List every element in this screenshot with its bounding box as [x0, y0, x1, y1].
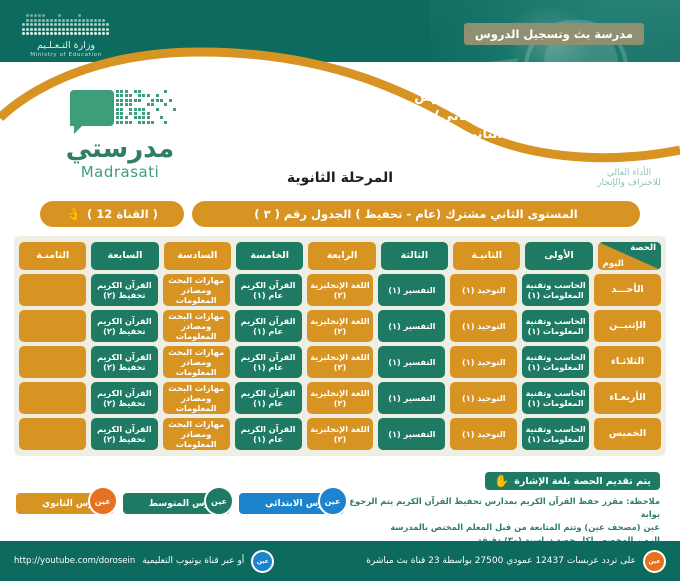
subject-cell: اللغة الإنجليزية (٢) — [307, 418, 374, 450]
title-line-1: جدول الحصص اليومي للدروس — [350, 88, 680, 107]
day-cell: الإثنيــن — [594, 310, 661, 342]
table-header-period-1: الأولى — [525, 242, 592, 270]
subject-cell — [19, 310, 86, 342]
table-row: الأربعـاءالحاسب وتقنية المعلومات (١)التو… — [19, 382, 661, 414]
subject-cell: مهارات البحث ومصادر المعلومات — [163, 274, 230, 306]
schedule-table: الحصةاليومالأولىالثانيـةالثالثةالرابعةال… — [14, 236, 666, 456]
speech-bubble-icon — [70, 90, 114, 126]
subject-cell: التوحيد (١) — [450, 418, 517, 450]
subject-cell — [19, 346, 86, 378]
schedule-page: مدرسة بث وتسجيل الدروس وزارة التـعـلـيم … — [0, 0, 680, 581]
subject-cell: اللغة الإنجليزية (٢) — [307, 310, 374, 342]
madrasati-mark-icon — [60, 86, 180, 134]
table-header-period-3: الثالثة — [381, 242, 448, 270]
ministry-name-en: Ministry of Education — [14, 52, 118, 58]
ain-button[interactable]: عيندروس المتوسط — [123, 493, 230, 514]
schedule-title: جدول الحصص اليومي للدروس (الفصل الدراسي … — [350, 88, 680, 145]
subject-cell: القرآن الكريم عام (١) — [235, 274, 302, 306]
ain-buttons-row: عيندروس الابتدائيعيندروس المتوسطعيندروس … — [16, 493, 344, 514]
table-header-row: الحصةاليومالأولىالثانيـةالثالثةالرابعةال… — [19, 242, 661, 270]
ain-icon-right: عين — [643, 550, 666, 573]
footer-note: ملاحظة: مقرر حفظ القرآن الكريم بمدارس تح… — [330, 495, 660, 546]
bottom-bar: عين على تردد عربسات 12437 عمودي 27500 بو… — [0, 541, 680, 581]
pixel-grid-icon — [116, 90, 178, 126]
subject-cell — [19, 418, 86, 450]
madrasati-logo: مدرستي Madrasati — [40, 86, 200, 181]
broadcast-school-tag: مدرسة بث وتسجيل الدروس — [464, 23, 644, 45]
hand-icon: 👌 — [66, 208, 81, 220]
level-pill-row: المستوى الثاني مشترك (عام - تحفيظ ) الجد… — [0, 200, 680, 228]
subject-cell: مهارات البحث ومصادر المعلومات — [163, 346, 230, 378]
subject-cell: القرآن الكريم تحفيظ (٢) — [91, 346, 158, 378]
subject-cell: التفسير (١) — [378, 346, 445, 378]
ain-badge-icon: عين — [318, 486, 348, 516]
note-line-1: ملاحظة: مقرر حفظ القرآن الكريم بمدارس تح… — [330, 495, 660, 521]
ain-badge-icon: عين — [88, 486, 118, 516]
title-line-2: (الفصل الدراسي الثاني) — [350, 107, 680, 126]
ain-button[interactable]: عيندروس الابتدائي — [239, 493, 344, 514]
ministry-dots-icon — [22, 10, 110, 36]
subject-cell: القرآن الكريم عام (١) — [235, 310, 302, 342]
subject-cell: التفسير (١) — [378, 310, 445, 342]
table-row: الثلاثـاءالحاسب وتقنية المعلومات (١)التو… — [19, 346, 661, 378]
subject-cell: القرآن الكريم عام (١) — [235, 382, 302, 414]
subject-cell: التوحيد (١) — [450, 382, 517, 414]
ain-badge-icon: عين — [204, 486, 234, 516]
youtube-url[interactable]: http://youtube.com/dorosein — [14, 556, 135, 566]
subject-cell: القرآن الكريم عام (١) — [235, 346, 302, 378]
table-header-period-6: السادسة — [164, 242, 231, 270]
subject-cell: التفسير (١) — [378, 382, 445, 414]
youtube-info[interactable]: عين أو عبر قناة يوتيوب التعليمية http://… — [14, 550, 274, 573]
subject-cell: القرآن الكريم عام (١) — [235, 418, 302, 450]
subject-cell: الحاسب وتقنية المعلومات (١) — [522, 310, 589, 342]
ain-icon-left: عين — [251, 550, 274, 573]
table-header-period-5: الخامسة — [236, 242, 303, 270]
subject-cell: اللغة الإنجليزية (٢) — [307, 382, 374, 414]
stage-title: المرحلة الثانوية — [0, 170, 680, 186]
ministry-name-ar: وزارة التـعـلـيم — [14, 40, 118, 51]
subject-cell — [19, 274, 86, 306]
corner-day-label: اليوم — [603, 259, 624, 269]
sign-language-label: يتم تقديم الحصة بلغة الإشارة — [514, 476, 651, 487]
madrasati-name-ar: مدرستي — [40, 136, 200, 162]
day-cell: الخميس — [594, 418, 661, 450]
subject-cell: اللغة الإنجليزية (٢) — [307, 274, 374, 306]
subject-cell: مهارات البحث ومصادر المعلومات — [163, 382, 230, 414]
subject-cell — [19, 382, 86, 414]
day-cell: الأحـــد — [594, 274, 661, 306]
subject-cell: اللغة الإنجليزية (٢) — [307, 346, 374, 378]
note-line-2: عين (مصحف عين) وتتم المتابعة من قبل المع… — [330, 521, 660, 534]
table-header-period-8: الثامنـة — [19, 242, 86, 270]
hand-icon-footer: ✋ — [494, 475, 509, 487]
subject-cell: مهارات البحث ومصادر المعلومات — [163, 310, 230, 342]
subject-cell: التوحيد (١) — [450, 274, 517, 306]
youtube-label: أو عبر قناة يوتيوب التعليمية — [142, 556, 244, 566]
subject-cell: القرآن الكريم تحفيظ (٢) — [91, 382, 158, 414]
table-header-period-4: الرابعة — [308, 242, 375, 270]
table-corner-cell: الحصةاليوم — [598, 242, 661, 270]
table-row: الأحـــدالحاسب وتقنية المعلومات (١)التوح… — [19, 274, 661, 306]
subject-cell: الحاسب وتقنية المعلومات (١) — [522, 418, 589, 450]
subject-cell: الحاسب وتقنية المعلومات (١) — [522, 346, 589, 378]
ministry-logo: وزارة التـعـلـيم Ministry of Education — [14, 10, 118, 58]
subject-cell: مهارات البحث ومصادر المعلومات — [163, 418, 230, 450]
level-pill: المستوى الثاني مشترك (عام - تحفيظ ) الجد… — [192, 201, 640, 227]
table-row: الإثنيــنالحاسب وتقنية المعلومات (١)التو… — [19, 310, 661, 342]
day-cell: الثلاثـاء — [594, 346, 661, 378]
subject-cell: القرآن الكريم تحفيظ (٢) — [91, 310, 158, 342]
title-line-3: الأسبوع : الثاني — [350, 126, 680, 144]
table-header-period-2: الثانيـة — [453, 242, 520, 270]
table-header-period-7: السابعة — [91, 242, 158, 270]
sign-language-badge: يتم تقديم الحصة بلغة الإشارة ✋ — [485, 472, 660, 490]
day-cell: الأربعـاء — [594, 382, 661, 414]
subject-cell: التوحيد (١) — [450, 310, 517, 342]
channel-pill-label: ( القناة 12 ) — [87, 207, 158, 221]
satellite-info: عين على تردد عربسات 12437 عمودي 27500 بو… — [366, 550, 666, 573]
subject-cell: القرآن الكريم تحفيظ (٢) — [91, 418, 158, 450]
subject-cell: التفسير (١) — [378, 274, 445, 306]
table-body: الأحـــدالحاسب وتقنية المعلومات (١)التوح… — [19, 274, 661, 450]
subject-cell: الحاسب وتقنية المعلومات (١) — [522, 274, 589, 306]
subject-cell: التفسير (١) — [378, 418, 445, 450]
corner-period-label: الحصة — [630, 243, 656, 253]
channel-pill: ( القناة 12 ) 👌 — [40, 201, 184, 227]
subject-cell: التوحيد (١) — [450, 346, 517, 378]
ain-button[interactable]: عيندروس الثانوي — [16, 493, 114, 514]
subject-cell: الحاسب وتقنية المعلومات (١) — [522, 382, 589, 414]
satellite-text: على تردد عربسات 12437 عمودي 27500 بواسطة… — [366, 556, 636, 566]
subject-cell: القرآن الكريم تحفيظ (٢) — [91, 274, 158, 306]
table-row: الخميسالحاسب وتقنية المعلومات (١)التوحيد… — [19, 418, 661, 450]
